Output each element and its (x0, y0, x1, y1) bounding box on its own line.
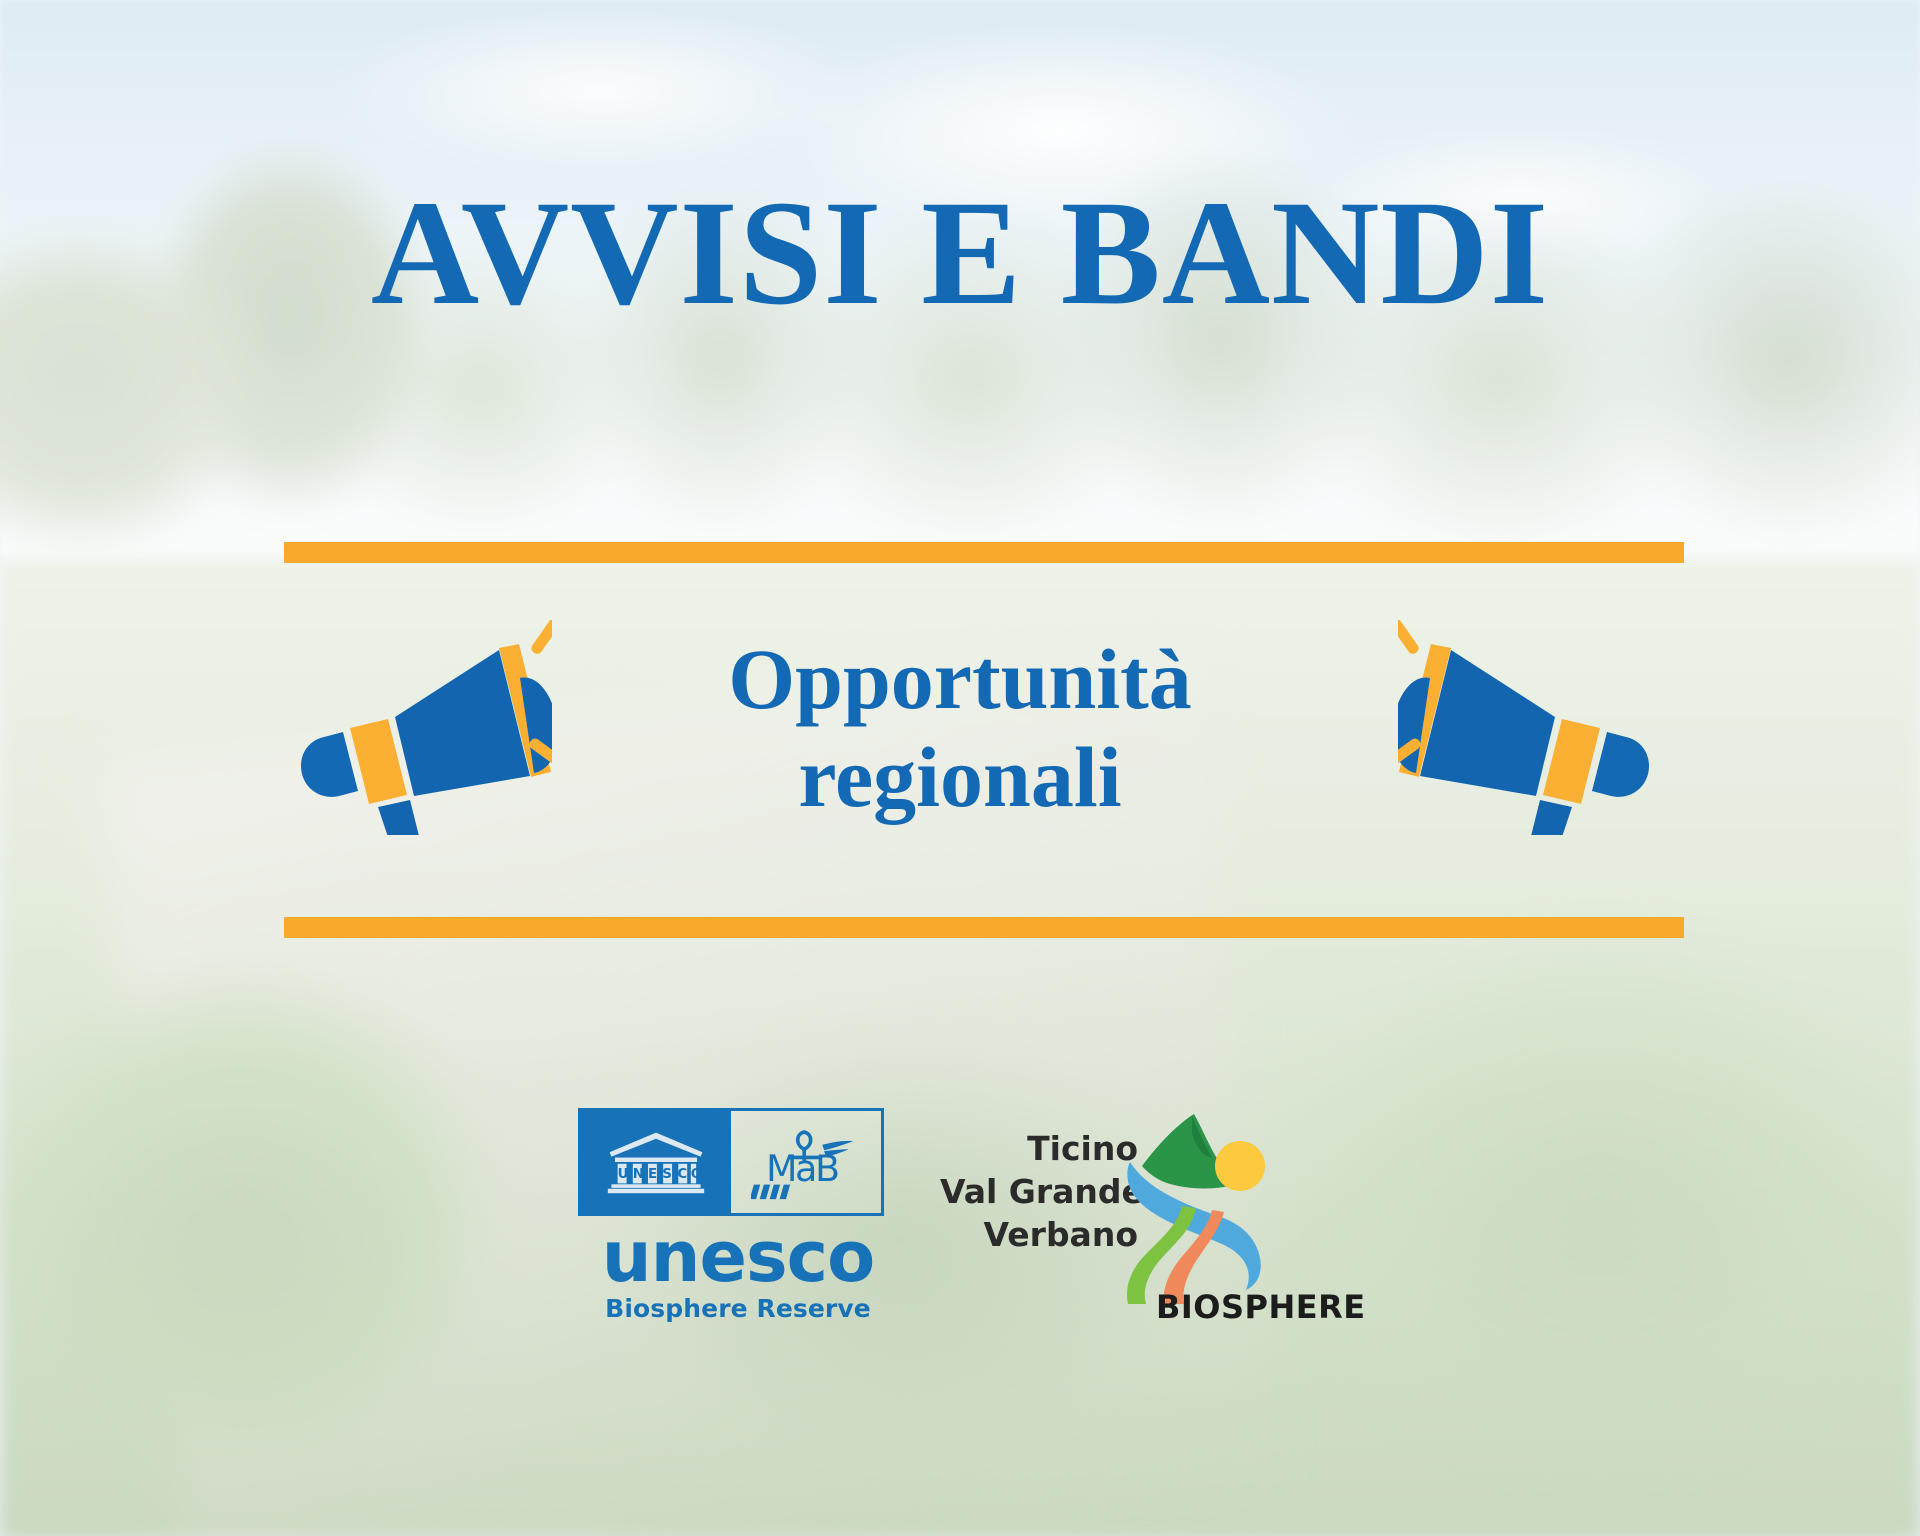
tvgv-biosphere-label: BIOSPHERE (1156, 1288, 1366, 1326)
mab-glyph: M a B (751, 1123, 861, 1201)
svg-text:S: S (662, 1167, 672, 1182)
megaphone-icon (262, 620, 552, 835)
subtitle-line-2: regionali (560, 728, 1360, 826)
mab-icon: M a B (731, 1111, 881, 1213)
svg-text:M: M (766, 1147, 797, 1190)
svg-text:a: a (795, 1147, 817, 1190)
megaphone-right-glyph (1398, 620, 1688, 835)
unesco-temple-icon: U N E S C O (581, 1111, 731, 1213)
svg-text:E: E (648, 1167, 657, 1182)
svg-text:U: U (618, 1167, 629, 1182)
svg-text:C: C (677, 1167, 687, 1182)
poster-content: AVVISI E BANDI (0, 0, 1920, 1536)
svg-text:B: B (815, 1147, 840, 1190)
page-title: AVVISI E BANDI (0, 178, 1920, 328)
logo-row: U N E S C O (0, 1108, 1920, 1358)
unesco-wordmark: unesco (578, 1222, 898, 1293)
unesco-tagline: Biosphere Reserve (578, 1294, 898, 1323)
divider-bottom (284, 917, 1684, 938)
poster-subtitle: Opportunità regionali (560, 630, 1360, 826)
unesco-logo: U N E S C O (578, 1108, 898, 1323)
tvgv-name: Ticino Val Grande Verbano (940, 1128, 1138, 1257)
megaphone-left-glyph (262, 620, 552, 835)
ticino-val-grande-verbano-logo: Ticino Val Grande Verbano (940, 1122, 1360, 1342)
tvgv-line-3: Verbano (940, 1214, 1138, 1257)
megaphone-icon (1398, 620, 1688, 835)
tvgv-line-1: Ticino (940, 1128, 1138, 1171)
tvgv-line-2: Val Grande (940, 1171, 1138, 1214)
biosphere-emblem-glyph (1126, 1104, 1286, 1304)
poster-canvas: AVVISI E BANDI (0, 0, 1920, 1536)
unesco-emblem-box: U N E S C O (578, 1108, 884, 1216)
divider-top (284, 542, 1684, 563)
biosphere-emblem-icon (1126, 1104, 1286, 1304)
subtitle-line-1: Opportunità (560, 630, 1360, 728)
svg-text:N: N (633, 1167, 644, 1182)
svg-text:O: O (691, 1167, 702, 1182)
unesco-temple-glyph: U N E S C O (602, 1129, 710, 1195)
